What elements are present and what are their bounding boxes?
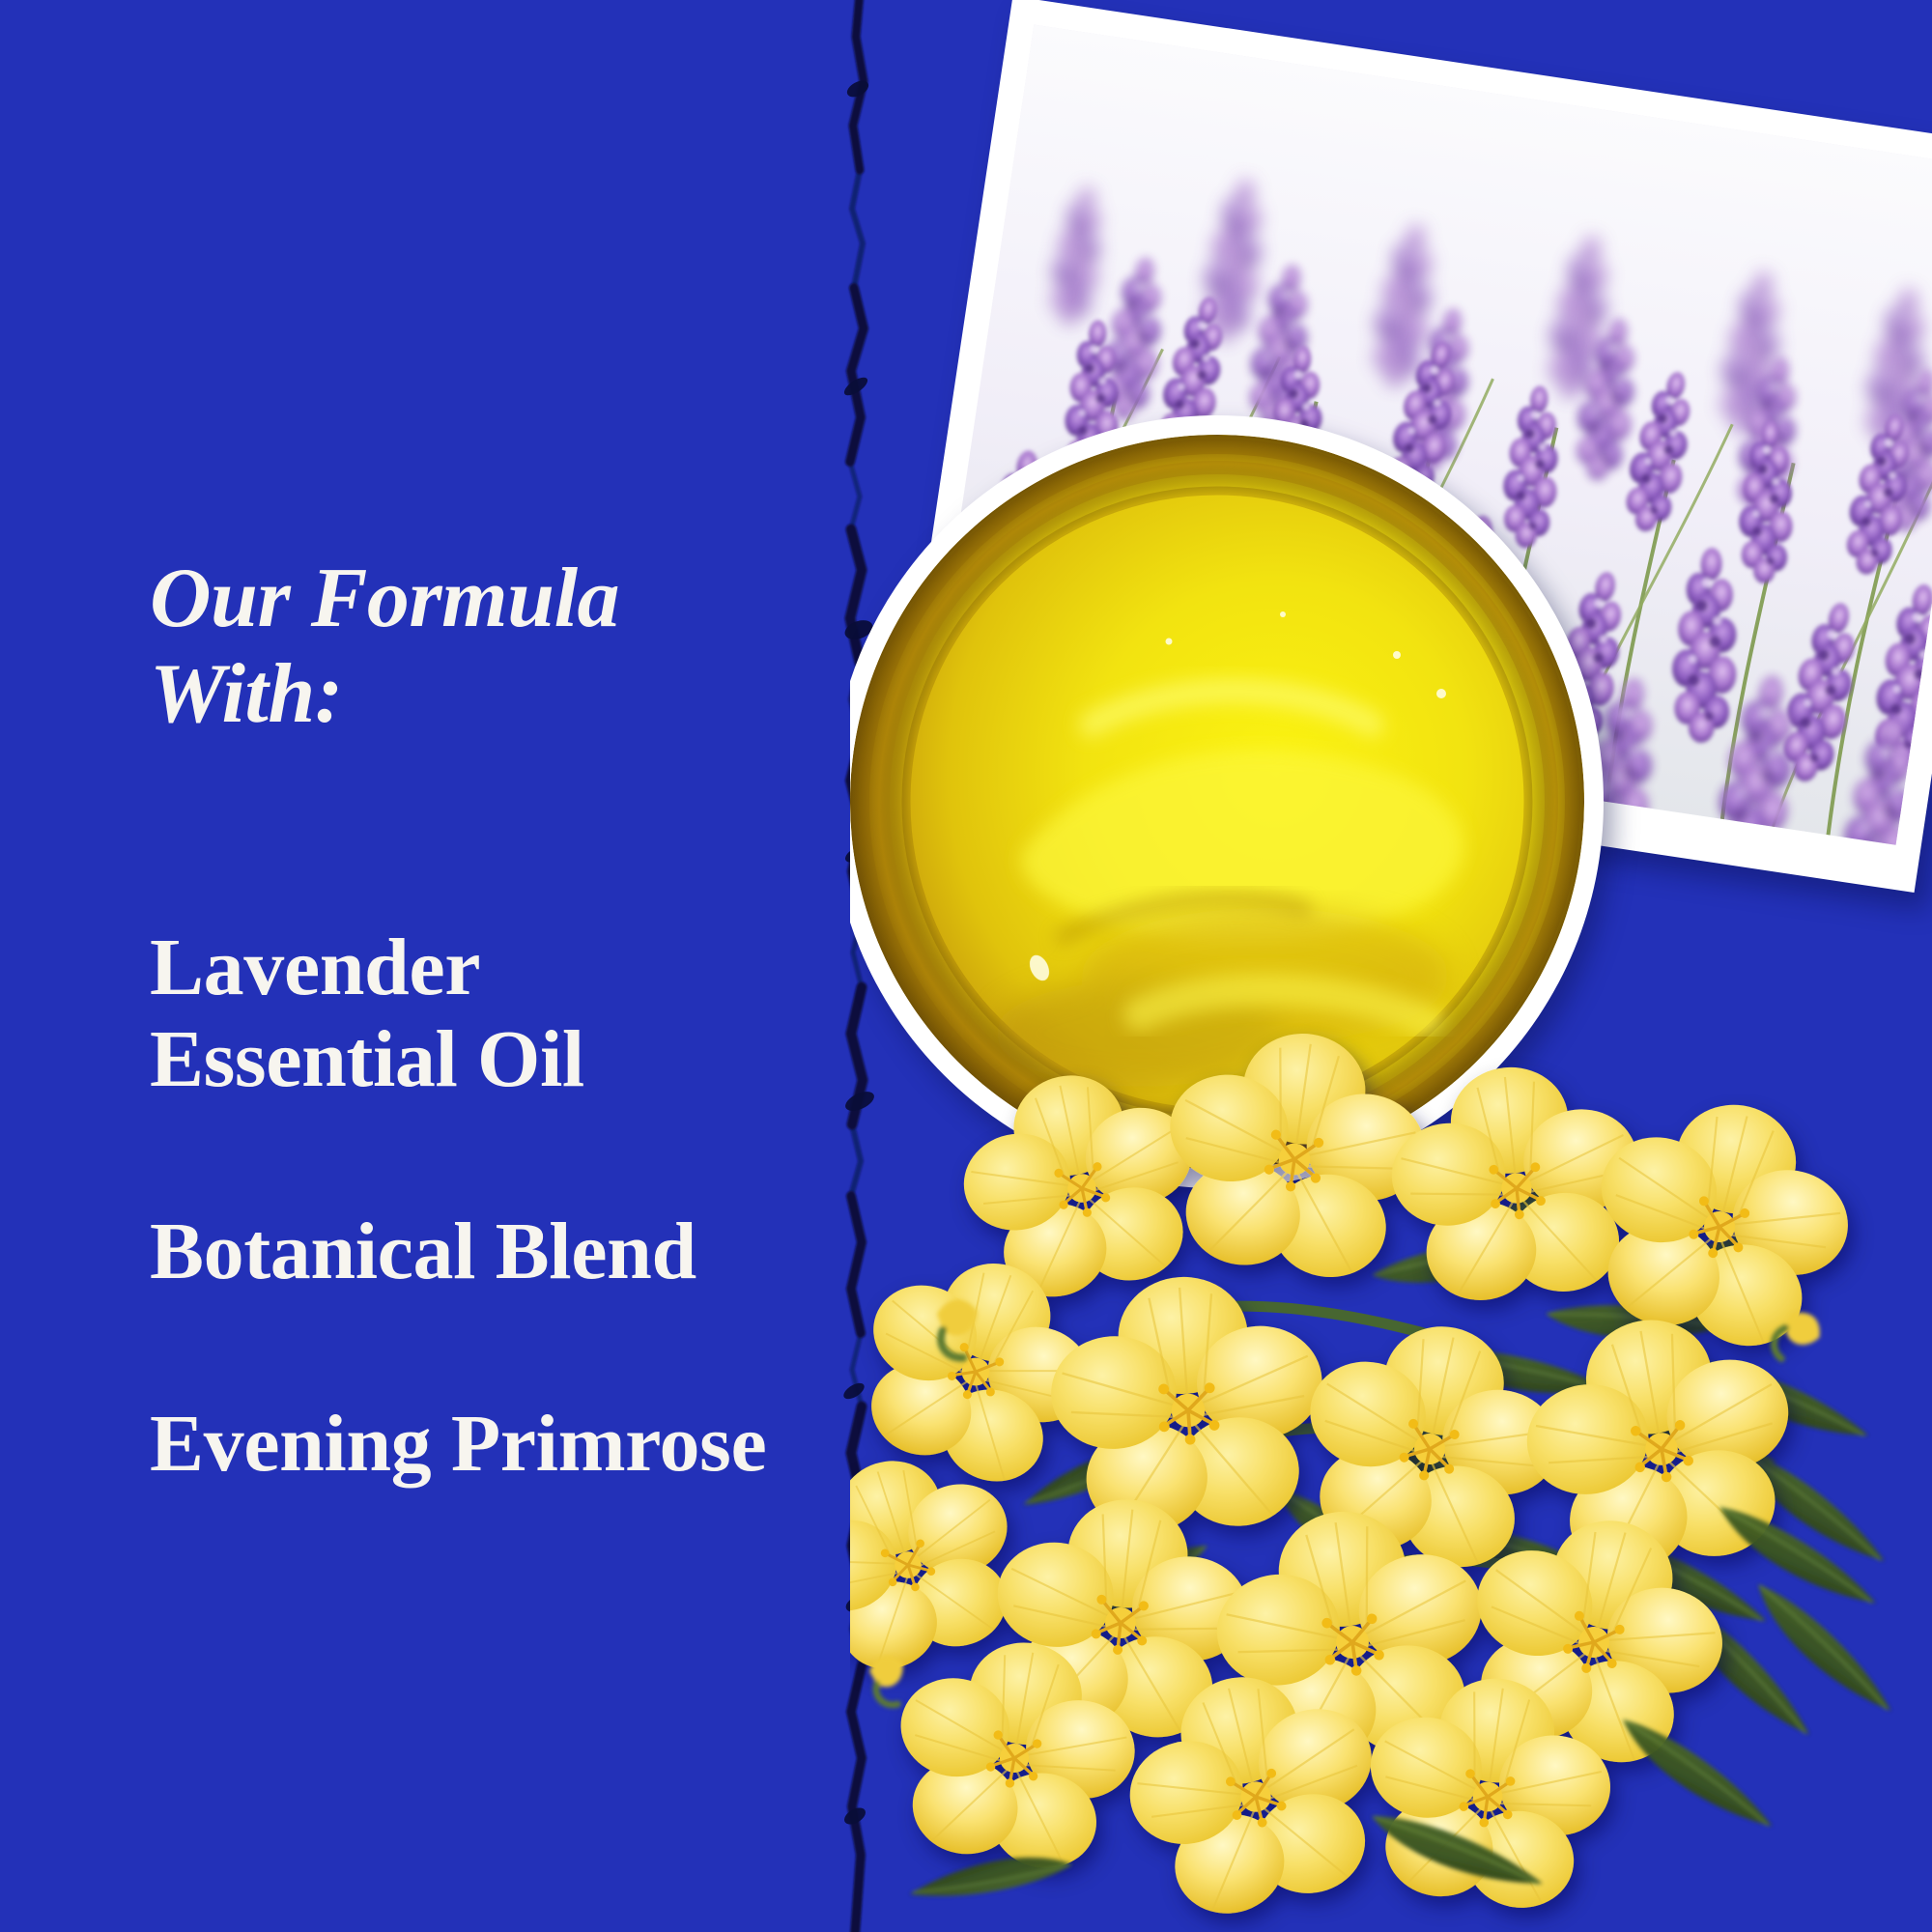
copy-panel: Our Formula With: Lavender Essential Oil…	[0, 0, 850, 1932]
ingredient-lavender-essential-oil: Lavender Essential Oil	[150, 923, 787, 1106]
page-title: Our Formula With:	[150, 551, 749, 743]
golden-oil-disc	[850, 435, 1584, 1169]
ingredient-botanical-blend: Botanical Blend	[150, 1207, 787, 1298]
product-ingredient-panel: Our Formula With: Lavender Essential Oil…	[0, 0, 1932, 1932]
golden-oil-sticker	[850, 415, 1604, 1188]
ingredient-collage	[850, 0, 1932, 1932]
ingredient-evening-primrose: Evening Primrose	[150, 1399, 787, 1491]
ingredient-list: Lavender Essential Oil Botanical Blend E…	[150, 923, 787, 1491]
